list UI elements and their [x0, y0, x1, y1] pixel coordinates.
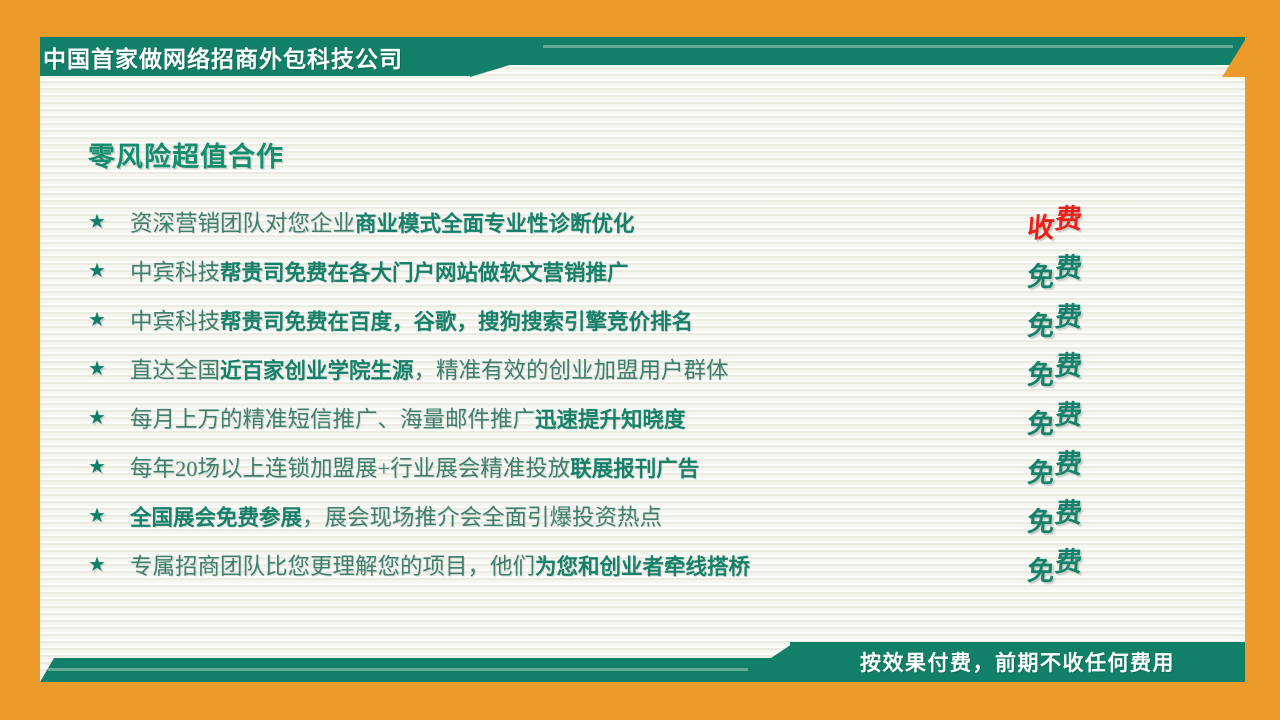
status-badge: 免费 [1026, 545, 1149, 584]
slide-root: 中国首家做网络招商外包科技公司 零风险超值合作 ★ 资深营销团队对您企业商业模式… [0, 0, 1280, 720]
status-badge: 免费 [1026, 300, 1149, 339]
list-item: ★ 中宾科技帮贵司免费在各大门户网站做软文营销推广 免费 [88, 246, 1148, 295]
header-title-text: 中国首家做网络招商外包科技公司 [40, 40, 403, 74]
list-item-text: 直达全国近百家创业学院生源，精准有效的创业加盟用户群体 [130, 353, 729, 385]
status-badge-char1: 免 [1026, 255, 1056, 294]
list-item-text-plain: 资深营销团队对您企业 [130, 211, 355, 236]
list-item-text-bold: 帮贵司免费在百度，谷歌，搜狗搜索引擎竞价排名 [220, 310, 693, 334]
list-item-text-plain: 直达全国 [130, 358, 220, 383]
list-item: ★ 中宾科技帮贵司免费在百度，谷歌，搜狗搜索引擎竞价排名 免费 [88, 295, 1148, 344]
status-badge: 免费 [1026, 251, 1149, 290]
star-icon: ★ [88, 212, 130, 232]
list-item-text-bold: 迅速提升知晓度 [535, 408, 686, 432]
status-badge-char1: 收 [1026, 206, 1056, 245]
star-icon: ★ [88, 555, 130, 575]
list-item: ★ 每年20场以上连锁加盟展+行业展会精准投放联展报刊广告 免费 [88, 442, 1148, 491]
status-badge: 免费 [1026, 349, 1149, 388]
status-badge: 免费 [1026, 496, 1149, 535]
list-item-text: 专属招商团队比您更理解您的项目，他们为您和创业者牵线搭桥 [130, 549, 750, 581]
list-item-text: 中宾科技帮贵司免费在百度，谷歌，搜狗搜索引擎竞价排名 [130, 304, 693, 336]
list-item-text: 每年20场以上连锁加盟展+行业展会精准投放联展报刊广告 [130, 451, 699, 483]
star-icon: ★ [88, 310, 130, 330]
list-item-text-bold: 商业模式全面专业性诊断优化 [355, 212, 635, 236]
list-item-text-tail: ，展会现场推介会全面引爆投资热点 [302, 505, 662, 530]
list-item-text-plain: 中宾科技 [130, 260, 220, 285]
list-item-text-plain: 每年20场以上连锁加盟展+行业展会精准投放 [130, 456, 570, 481]
list-item: ★ 资深营销团队对您企业商业模式全面专业性诊断优化 收费 [88, 197, 1148, 246]
list-item: ★ 全国展会免费参展，展会现场推介会全面引爆投资热点 免费 [88, 491, 1148, 540]
star-icon: ★ [88, 261, 130, 281]
benefit-list: ★ 资深营销团队对您企业商业模式全面专业性诊断优化 收费 ★ 中宾科技帮贵司免费… [88, 197, 1148, 589]
list-item-text-plain: 每月上万的精准短信推广、海量邮件推广 [130, 407, 535, 432]
status-badge-char2: 费 [1054, 246, 1084, 285]
list-item-text: 资深营销团队对您企业商业模式全面专业性诊断优化 [130, 206, 635, 238]
list-item-text-bold: 为您和创业者牵线搭桥 [535, 555, 750, 579]
status-badge-char1: 免 [1026, 451, 1056, 490]
list-item-text-bold: 全国展会免费参展 [130, 506, 302, 530]
header-title: 中国首家做网络招商外包科技公司 [40, 37, 480, 76]
list-item-text: 中宾科技帮贵司免费在各大门户网站做软文营销推广 [130, 255, 629, 287]
status-badge-char1: 免 [1026, 549, 1056, 588]
list-item-text-tail: ，精准有效的创业加盟用户群体 [414, 358, 729, 383]
status-badge-char1: 免 [1026, 500, 1056, 539]
status-badge-char1: 免 [1026, 304, 1056, 343]
page-title: 零风险超值合作 [88, 135, 284, 174]
status-badge-char2: 费 [1054, 540, 1084, 579]
status-badge: 收费 [1026, 202, 1149, 241]
status-badge-char1: 免 [1026, 402, 1056, 441]
list-item-text-plain: 中宾科技 [130, 309, 220, 334]
status-badge-char1: 免 [1026, 353, 1056, 392]
list-item-text-bold: 联展报刊广告 [570, 457, 699, 481]
list-item: ★ 直达全国近百家创业学院生源，精准有效的创业加盟用户群体 免费 [88, 344, 1148, 393]
status-badge-char2: 费 [1054, 491, 1084, 530]
footer-tagline: 按效果付费，前期不收任何费用 [790, 642, 1245, 682]
star-icon: ★ [88, 408, 130, 428]
status-badge: 免费 [1026, 447, 1149, 486]
status-badge-char2: 费 [1054, 344, 1084, 383]
list-item-text: 每月上万的精准短信推广、海量邮件推广迅速提升知晓度 [130, 402, 686, 434]
list-item-text-bold: 近百家创业学院生源 [220, 359, 414, 383]
footer-accent-line [48, 668, 748, 671]
status-badge-char2: 费 [1054, 197, 1084, 236]
star-icon: ★ [88, 457, 130, 477]
list-item-text: 全国展会免费参展，展会现场推介会全面引爆投资热点 [130, 500, 662, 532]
status-badge-char2: 费 [1054, 393, 1084, 432]
header-accent-line [543, 45, 1233, 48]
star-icon: ★ [88, 506, 130, 526]
list-item-text-bold: 帮贵司免费在各大门户网站做软文营销推广 [220, 261, 629, 285]
status-badge: 免费 [1026, 398, 1149, 437]
footer-tagline-text: 按效果付费，前期不收任何费用 [860, 647, 1175, 677]
list-item: ★ 每月上万的精准短信推广、海量邮件推广迅速提升知晓度 免费 [88, 393, 1148, 442]
list-item: ★ 专属招商团队比您更理解您的项目，他们为您和创业者牵线搭桥 免费 [88, 540, 1148, 589]
star-icon: ★ [88, 359, 130, 379]
status-badge-char2: 费 [1054, 295, 1084, 334]
status-badge-char2: 费 [1054, 442, 1084, 481]
list-item-text-plain: 专属招商团队比您更理解您的项目，他们 [130, 554, 535, 579]
